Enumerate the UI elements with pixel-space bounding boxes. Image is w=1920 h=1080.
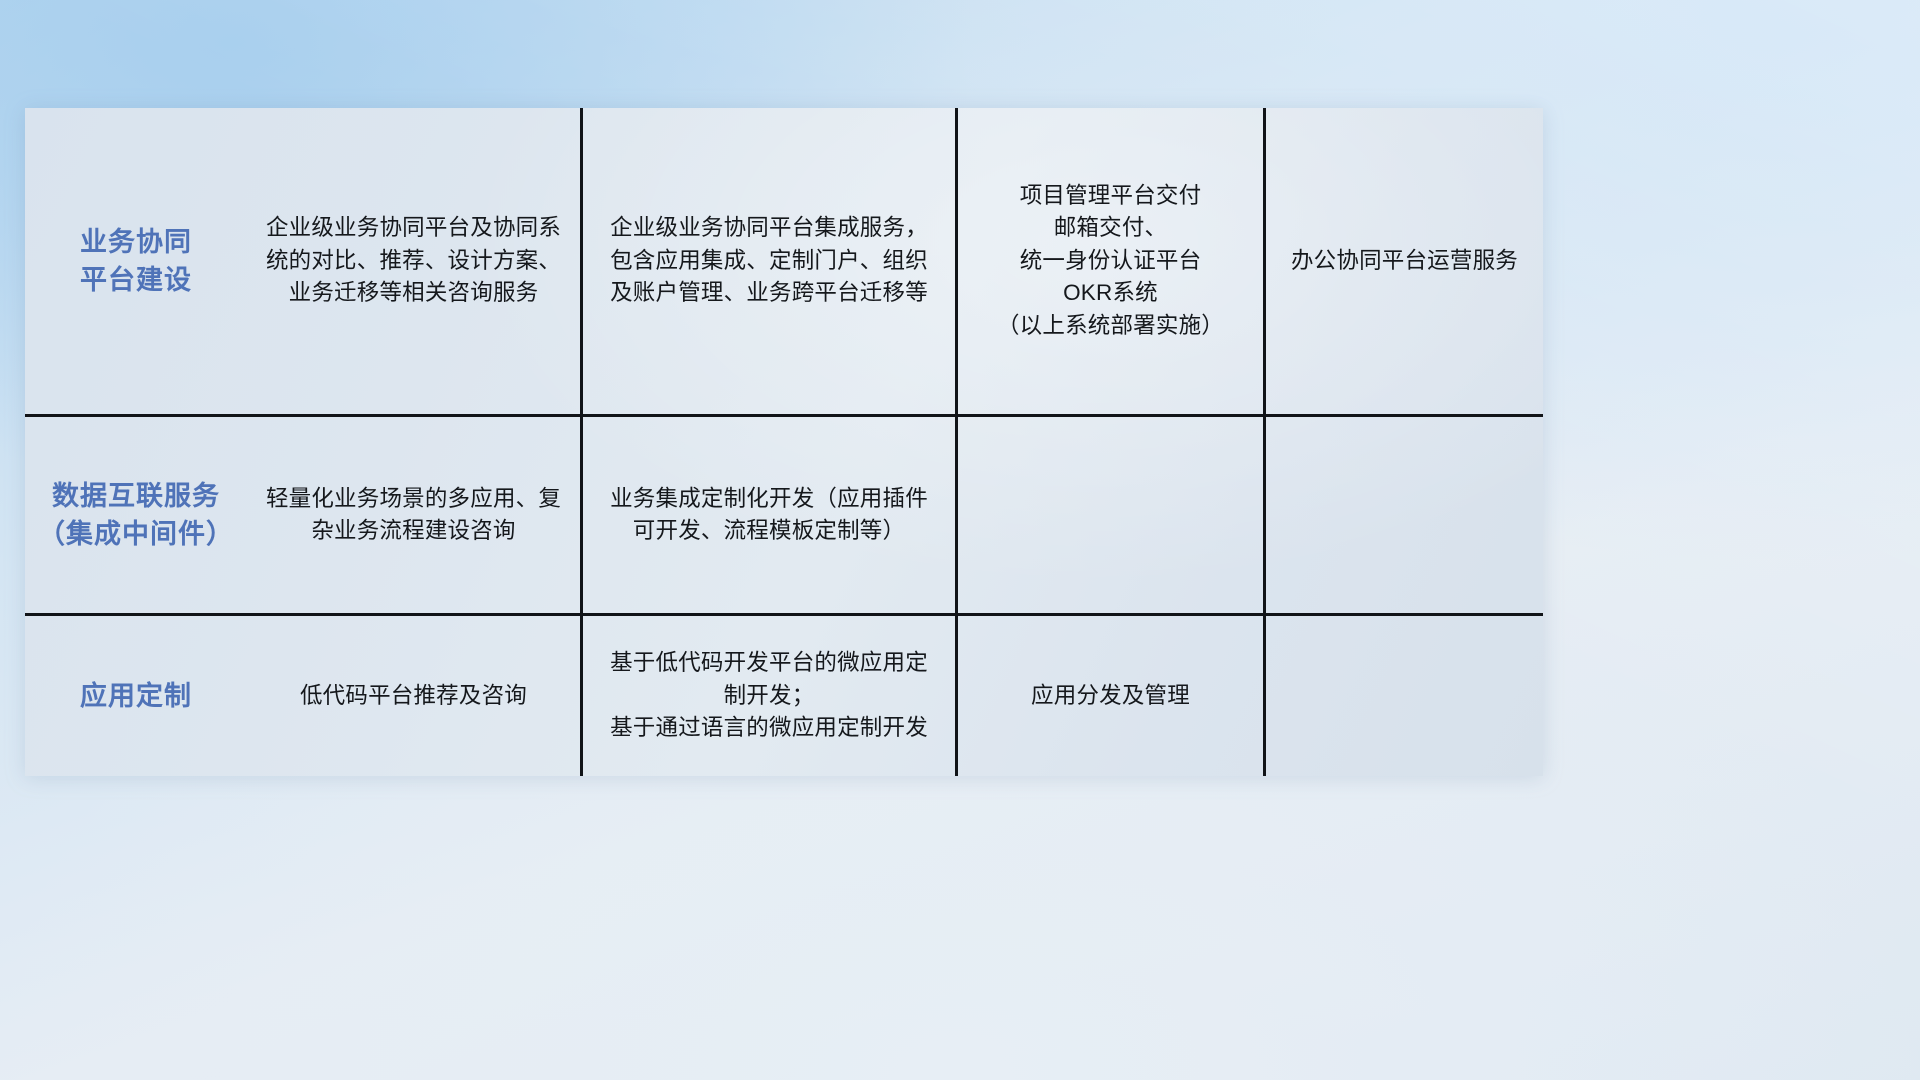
row-category-cell: 应用定制 — [25, 616, 247, 776]
cell-consulting: 轻量化业务场景的多应用、复 杂业务流程建设咨询 — [247, 417, 580, 613]
cell-operations — [1263, 616, 1543, 776]
cell-development: 企业级业务协同平台集成服务， 包含应用集成、定制门户、组织 及账户管理、业务跨平… — [580, 108, 955, 414]
cell-consulting: 企业级业务协同平台及协同系 统的对比、推荐、设计方案、 业务迁移等相关咨询服务 — [247, 108, 580, 414]
table-row: 数据互联服务 （集成中间件） 轻量化业务场景的多应用、复 杂业务流程建设咨询 业… — [25, 414, 1543, 613]
category-label: 数据互联服务 （集成中间件） — [38, 477, 234, 554]
cell-text: 轻量化业务场景的多应用、复 杂业务流程建设咨询 — [266, 483, 561, 548]
cell-delivery — [955, 417, 1263, 613]
category-label: 应用定制 — [80, 677, 192, 715]
table-row: 应用定制 低代码平台推荐及咨询 基于低代码开发平台的微应用定 制开发； 基于通过… — [25, 613, 1543, 776]
cell-text: 低代码平台推荐及咨询 — [300, 680, 527, 712]
row-category-cell: 业务协同 平台建设 — [25, 108, 247, 414]
cell-text: 办公协同平台运营服务 — [1291, 245, 1518, 277]
cell-text: 项目管理平台交付 邮箱交付、 统一身份认证平台 OKR系统 （以上系统部署实施） — [997, 180, 1224, 342]
cell-development: 基于低代码开发平台的微应用定 制开发； 基于通过语言的微应用定制开发 — [580, 616, 955, 776]
cell-delivery: 项目管理平台交付 邮箱交付、 统一身份认证平台 OKR系统 （以上系统部署实施） — [955, 108, 1263, 414]
cell-operations: 办公协同平台运营服务 — [1263, 108, 1543, 414]
category-label: 业务协同 平台建设 — [80, 223, 192, 300]
cell-delivery: 应用分发及管理 — [955, 616, 1263, 776]
service-matrix-table: 服务类别 咨询 开发 交付 运维 业务协同 平台建设 企业级业务协同平台及协同系… — [25, 108, 1543, 776]
cell-text: 企业级业务协同平台集成服务， 包含应用集成、定制门户、组织 及账户管理、业务跨平… — [610, 212, 928, 309]
row-category-cell: 数据互联服务 （集成中间件） — [25, 417, 247, 613]
table-body: 业务协同 平台建设 企业级业务协同平台及协同系 统的对比、推荐、设计方案、 业务… — [25, 108, 1543, 776]
cell-consulting: 低代码平台推荐及咨询 — [247, 616, 580, 776]
cell-development: 业务集成定制化开发（应用插件 可开发、流程模板定制等） — [580, 417, 955, 613]
table-row: 业务协同 平台建设 企业级业务协同平台及协同系 统的对比、推荐、设计方案、 业务… — [25, 108, 1543, 414]
cell-text: 基于低代码开发平台的微应用定 制开发； 基于通过语言的微应用定制开发 — [610, 647, 928, 744]
cell-operations — [1263, 417, 1543, 613]
cell-text: 企业级业务协同平台及协同系 统的对比、推荐、设计方案、 业务迁移等相关咨询服务 — [266, 212, 561, 309]
cell-text: 应用分发及管理 — [1031, 680, 1190, 712]
cell-text: 业务集成定制化开发（应用插件 可开发、流程模板定制等） — [610, 483, 928, 548]
